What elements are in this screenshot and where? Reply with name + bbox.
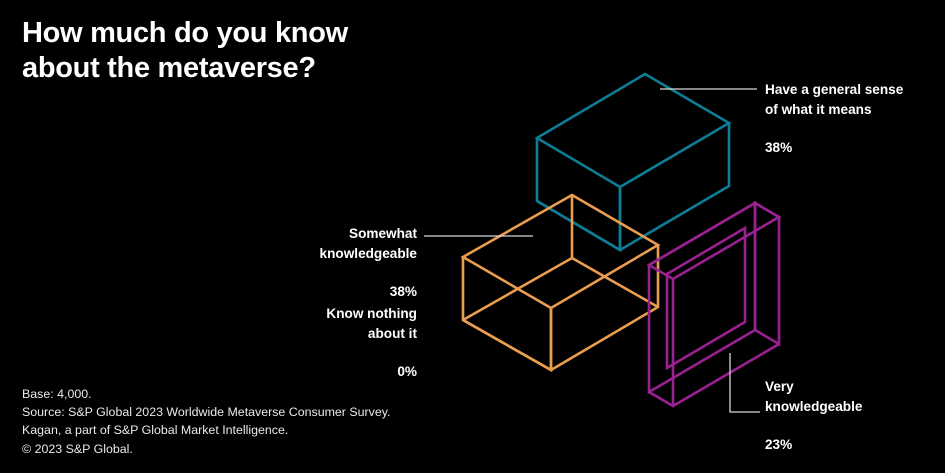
bar-volume-very: [649, 203, 779, 406]
bar-volume-general-sense: [537, 74, 729, 250]
callout-general-sense: Have a general sense of what it means 38…: [765, 61, 903, 177]
footnote-attribution: Kagan, a part of S&P Global Market Intel…: [22, 421, 492, 439]
infographic-canvas: How much do you know about the metaverse…: [0, 0, 945, 473]
callout-general-sense-value: 38%: [765, 138, 903, 157]
callout-know-nothing: Know nothing about it 0%: [326, 285, 417, 401]
footnote-copyright: © 2023 S&P Global.: [22, 440, 492, 458]
callout-very-knowledgeable-value: 23%: [765, 435, 862, 454]
leader-line-very: [730, 353, 760, 412]
callout-general-sense-label: Have a general sense of what it means: [765, 80, 903, 119]
callout-somewhat-knowledgeable-label: Somewhat knowledgeable: [320, 224, 417, 263]
callout-know-nothing-label: Know nothing about it: [326, 304, 417, 343]
footnote-source: Source: S&P Global 2023 Worldwide Metave…: [22, 403, 492, 421]
callout-know-nothing-value: 0%: [326, 362, 417, 381]
bar-volume-somewhat: [463, 195, 658, 370]
callout-very-knowledgeable-label: Very knowledgeable: [765, 377, 862, 416]
footnote-base: Base: 4,000.: [22, 385, 492, 403]
callout-very-knowledgeable: Very knowledgeable 23%: [765, 358, 862, 473]
footnote-block: Base: 4,000. Source: S&P Global 2023 Wor…: [22, 385, 492, 458]
